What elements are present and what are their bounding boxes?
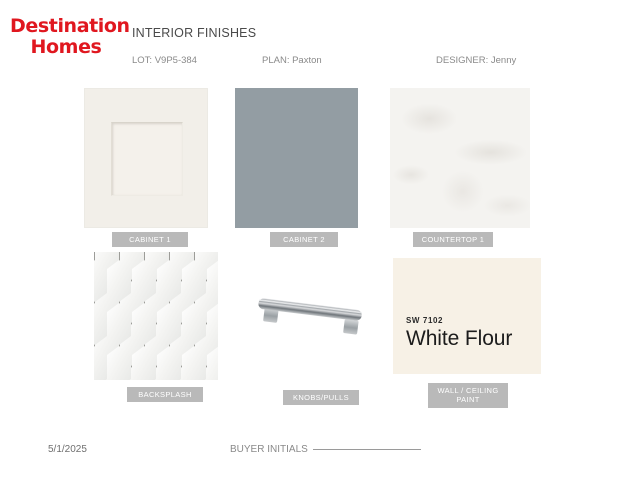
label-backsplash: BACKSPLASH xyxy=(127,387,203,402)
company-logo: Destination Homes xyxy=(10,16,122,58)
label-cabinet-2: CABINET 2 xyxy=(270,232,338,247)
buyer-initials-rule[interactable] xyxy=(313,449,421,450)
swatch-backsplash xyxy=(94,252,218,380)
picket-tile-pattern-icon xyxy=(94,252,218,380)
logo-line-2: Homes xyxy=(10,37,122,58)
paint-name: White Flour xyxy=(406,327,512,351)
designer-name: DESIGNER: Jenny xyxy=(436,55,516,66)
label-wall-ceiling-paint: WALL / CEILING PAINT xyxy=(428,383,508,408)
label-wall-ceiling-paint-line-2: PAINT xyxy=(456,395,479,404)
buyer-initials-label: BUYER INITIALS xyxy=(230,444,308,455)
logo-line-1: Destination xyxy=(10,16,122,37)
swatch-countertop-1 xyxy=(390,88,530,228)
label-countertop-1: COUNTERTOP 1 xyxy=(413,232,493,247)
label-wall-ceiling-paint-line-1: WALL / CEILING xyxy=(437,386,498,395)
cabinet-door-recessed-panel xyxy=(111,122,183,196)
page-header: Destination Homes INTERIOR FINISHES LOT:… xyxy=(0,0,621,80)
label-cabinet-1: CABINET 1 xyxy=(112,232,188,247)
footer-date: 5/1/2025 xyxy=(48,444,87,455)
swatch-wall-ceiling-paint: SW 7102 White Flour xyxy=(393,258,541,374)
paint-code: SW 7102 xyxy=(406,316,443,325)
swatch-knobs-pulls xyxy=(248,284,372,346)
bar-pull-icon xyxy=(248,284,372,346)
swatch-cabinet-2 xyxy=(235,88,358,228)
lot-number: LOT: V9P5-384 xyxy=(132,55,197,66)
page-title: INTERIOR FINISHES xyxy=(132,26,256,40)
plan-name: PLAN: Paxton xyxy=(262,55,322,66)
label-knobs-pulls: KNOBS/PULLS xyxy=(283,390,359,405)
swatch-cabinet-1 xyxy=(84,88,208,228)
buyer-initials-field[interactable]: BUYER INITIALS xyxy=(230,444,421,455)
